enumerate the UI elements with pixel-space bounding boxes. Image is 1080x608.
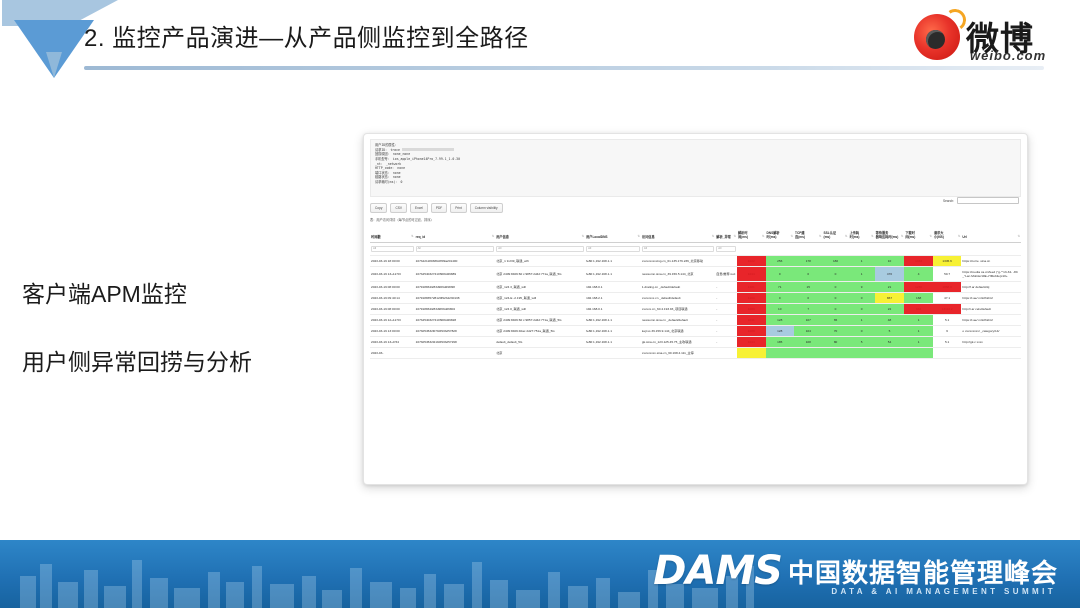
- cell-size: 1345.6: [933, 256, 962, 267]
- cell-localdns: [585, 348, 641, 359]
- filter-cell-ts[interactable]: All: [370, 243, 415, 256]
- cell-dns_t: 1481: [737, 282, 766, 293]
- print-button[interactable]: Print: [450, 203, 467, 213]
- cell-dns_t: 1044: [737, 267, 766, 282]
- cell-access: xxxxxxxxxxing.cn_61.135.176.236_北京移动: [641, 256, 715, 267]
- cell-url: o xxxxxxxxx/ _category/14/: [961, 326, 1021, 337]
- column-header-result[interactable]: 解析_异常⇅: [715, 228, 737, 243]
- cell-result: -: [715, 304, 737, 315]
- cell-size: 6: [933, 326, 962, 337]
- cell-up_ms: 1: [849, 256, 875, 267]
- cell-dns_t: 1041: [737, 315, 766, 326]
- cell-tcp_ms: 0: [794, 293, 823, 304]
- filter-cell-wait_ms[interactable]: [875, 243, 905, 256]
- filter-cell-size[interactable]: [933, 243, 962, 256]
- cell-url: https://corre .sina.cn: [961, 256, 1021, 267]
- cell-result: -: [715, 282, 737, 293]
- cell-up_ms: 1: [849, 267, 875, 282]
- cell-result: -: [715, 293, 737, 304]
- filter-select[interactable]: All: [642, 246, 714, 252]
- cell-dns_ms: 71: [766, 282, 795, 293]
- cell-tcp_ms: 0: [794, 267, 823, 282]
- cell-req_id: 107918834l283d909d2983l8: [415, 282, 496, 293]
- cell-size: [933, 348, 962, 359]
- cell-access: gk.sina.cn_123.125.45.75_主攻联通: [641, 337, 715, 348]
- title-divider: [84, 66, 1044, 70]
- cell-ssl_ms: 0: [823, 304, 849, 315]
- cell-req_id: 107b054532l21b0f93b257298: [415, 337, 496, 348]
- cell-down_ms: 1230: [904, 282, 933, 293]
- cell-result: -: [715, 315, 737, 326]
- cell-ts: 2023-03-: [370, 348, 415, 359]
- cell-size: 1868.0: [933, 282, 962, 293]
- cell-down_ms: 1: [904, 315, 933, 326]
- dams-wordmark: DAMS: [653, 548, 782, 594]
- filter-cell-localdns[interactable]: All: [585, 243, 641, 256]
- column-header-url[interactable]: Url⇅: [961, 228, 1021, 243]
- column-header-wait_ms[interactable]: 等待服务器响应耗时(ms)⇅: [875, 228, 905, 243]
- cell-dns_ms: 10: [766, 304, 795, 315]
- cell-tcp_ms: [794, 348, 823, 359]
- cell-tcp_ms: 104: [794, 326, 823, 337]
- table-note: 表：用户访问详情（每节点的可过滤、排序）: [370, 217, 1021, 222]
- cell-wait_ms: 10: [875, 256, 905, 267]
- sort-icon[interactable]: ⇅: [492, 235, 495, 239]
- weibo-eye-icon: [914, 14, 960, 60]
- sort-icon[interactable]: ⇅: [871, 235, 874, 239]
- column-header-req_id[interactable]: req_id⇅: [415, 228, 496, 243]
- cell-userinfo: 北京: [495, 348, 585, 359]
- cell-userinfo: 北京 2409:8409:60 c:9857:2d42:771a_联通_5G: [495, 315, 585, 326]
- filter-select[interactable]: All: [496, 246, 584, 252]
- table-row[interactable]: 2023-03-19 12+12:53107b2540327410f909d29…: [370, 315, 1021, 326]
- cell-result: 自贡/推荐 /ext: [715, 267, 737, 282]
- cell-tcp_ms: 178: [794, 256, 823, 267]
- cell-result: [715, 256, 737, 267]
- sort-icon[interactable]: ⇅: [901, 235, 904, 239]
- filter-cell-userinfo[interactable]: All: [495, 243, 585, 256]
- sort-icon[interactable]: ⇅: [733, 235, 736, 239]
- column-header-size[interactable]: 请求大小(KB)⇅: [933, 228, 962, 243]
- cell-ts: 2023-03-19 08:00:00: [370, 304, 415, 315]
- cell-localdns: fe80:1,192.168.1.1: [585, 326, 641, 337]
- cell-userinfo: 北京 2409:8409:60 c:9857:2d42:771a_联通_5G: [495, 267, 585, 282]
- cell-dns_ms: 128: [766, 315, 795, 326]
- cell-ssl_ms: 0: [823, 267, 849, 282]
- cell-down_ms: 1: [904, 326, 933, 337]
- cell-size: 50.7: [933, 267, 962, 282]
- slide-header: 2. 监控产品演进—从产品侧监控到全路径 微博 weibo.com: [0, 0, 1080, 78]
- export-toolbar: Copy CSV Excel PDF Print Column visibili…: [370, 203, 1021, 213]
- info-line: 请求耗时(ms)： 0: [375, 180, 1016, 185]
- cell-up_ms: 0: [849, 304, 875, 315]
- cell-access: 1.drating.cn _default/default: [641, 282, 715, 293]
- info-lines: 请求ID： trace回捞原因： none_none手机型号： ios_appl…: [375, 148, 1016, 185]
- cell-size: 5.1: [933, 315, 962, 326]
- cell-dns_t: 1044: [737, 337, 766, 348]
- sort-icon[interactable]: ⇅: [712, 235, 715, 239]
- cell-down_ms: 4: [904, 267, 933, 282]
- cell-dns_ms: 0: [766, 293, 795, 304]
- cell-wait_ms: 54: [875, 337, 905, 348]
- table-row[interactable]: 2023-03-19 18:00:00107b221180389c8f09a20…: [370, 256, 1021, 267]
- cell-ssl_ms: 0: [823, 293, 849, 304]
- filter-select[interactable]: All: [416, 246, 495, 252]
- table-row[interactable]: 2023-03-19 09:40:14107918835728120f92b22…: [370, 293, 1021, 304]
- cell-url: http://i.ar cels/default: [961, 304, 1021, 315]
- caption-list: 客户端APM监控 用户侧异常回捞与分析: [22, 275, 252, 411]
- table-row[interactable]: 2023-03-19 08:00:00107918834l283d909d298…: [370, 282, 1021, 293]
- csv-button[interactable]: CSV: [390, 203, 407, 213]
- cell-access: xxxxxx.cn_60.4.193.93_项目联通: [641, 304, 715, 315]
- pdf-button[interactable]: PDF: [431, 203, 447, 213]
- cell-dns_ms: 0: [766, 267, 795, 282]
- filter-cell-url[interactable]: [961, 243, 1021, 256]
- cell-ts: 2023-03-19 13+0:54: [370, 337, 415, 348]
- cell-wait_ms: 470: [875, 267, 905, 282]
- cell-userinfo: 北京_1 9.239_联通_wifi: [495, 256, 585, 267]
- cell-tcp_ms: 108: [794, 337, 823, 348]
- cell-size: 5.1: [933, 337, 962, 348]
- cell-result: -: [715, 337, 737, 348]
- cell-access: kejl.ss 39.156.9.144_北京联通: [641, 326, 715, 337]
- screenshot-panel: 用户ID的属性： 请求ID： trace回捞原因： none_none手机型号：…: [363, 133, 1028, 485]
- cell-ssl_ms: [823, 348, 849, 359]
- filter-select[interactable]: All: [371, 246, 414, 252]
- cell-down_ms: 1: [904, 337, 933, 348]
- column-header-dns_t[interactable]: 解析时间(ms)⇅: [737, 228, 766, 243]
- cell-wait_ms: 22: [875, 304, 905, 315]
- column-header-localdns[interactable]: 用户LocalDNS⇅: [585, 228, 641, 243]
- cell-req_id: 107918834l283d9f09d26804: [415, 304, 496, 315]
- cell-ts: 2023-03-19 13+12:53: [370, 267, 415, 282]
- table-head: 时间戳⇅req_id⇅用户信息⇅用户LocalDNS⇅访问信息⇅解析_异常⇅解析…: [370, 228, 1021, 243]
- cell-dns_t: 1104: [737, 293, 766, 304]
- column-header-ssl_ms[interactable]: SSL认证(ms)⇅: [823, 228, 849, 243]
- cell-up_ms: 0: [849, 326, 875, 337]
- caption-analysis: 用户侧异常回捞与分析: [22, 343, 252, 377]
- filter-cell-req_id[interactable]: All: [415, 243, 496, 256]
- page-title: 2. 监控产品演进—从产品侧监控到全路径: [84, 18, 529, 53]
- cell-tcp_ms: 7: [794, 304, 823, 315]
- filter-select[interactable]: All: [716, 246, 736, 252]
- sort-icon[interactable]: ⇅: [582, 235, 585, 239]
- cell-userinfo: 北京_124 3_联通_wifi: [495, 282, 585, 293]
- cell-up_ms: 5: [849, 337, 875, 348]
- cell-ts: 2023-03-19 13:00:00: [370, 326, 415, 337]
- sort-icon[interactable]: ⇅: [411, 235, 414, 239]
- cell-localdns: 192.168.2.1: [585, 293, 641, 304]
- sort-icon[interactable]: ⇅: [762, 235, 765, 239]
- cell-url: https://media ca.cn/feed ("g-""13-34- -8…: [961, 267, 1021, 282]
- column-header-tcp_ms[interactable]: TCP建连(ms)⇅: [794, 228, 823, 243]
- cell-wait_ms: 48: [875, 315, 905, 326]
- filter-cell-result[interactable]: All: [715, 243, 737, 256]
- cell-down_ms: 168: [904, 293, 933, 304]
- cell-up_ms: [849, 348, 875, 359]
- cell-wait_ms: 5: [875, 326, 905, 337]
- table-row[interactable]: 2023-03-19 08:00:00107918834l283d9f09d26…: [370, 304, 1021, 315]
- sort-icon[interactable]: ⇅: [929, 235, 932, 239]
- filter-cell-down_ms[interactable]: [904, 243, 933, 256]
- dams-chinese-name: 中国数据智能管理峰会: [788, 553, 1058, 590]
- column-header-userinfo[interactable]: 用户信息⇅: [495, 228, 585, 243]
- cell-userinfo: default_default_5G: [495, 337, 585, 348]
- cell-userinfo: 北京 2409:8409:40ac 2d27:751a_联通_5G: [495, 326, 585, 337]
- cell-localdns: 192.168.0.1: [585, 282, 641, 293]
- sort-icon[interactable]: ⇅: [845, 235, 848, 239]
- cell-access: xxxxxxxxx.sina.cn_60.168.4.111_主停: [641, 348, 715, 359]
- cell-ts: 2023-03-19 08:00:00: [370, 282, 415, 293]
- cell-localdns: 192.168.0.1: [585, 304, 641, 315]
- filter-cell-ssl_ms[interactable]: [823, 243, 849, 256]
- column-header-dns_ms[interactable]: DNS解析时(ms)⇅: [766, 228, 795, 243]
- search-input[interactable]: [957, 197, 1019, 204]
- cell-result: -: [715, 326, 737, 337]
- cell-localdns: fe80:1,192.168.1.1: [585, 337, 641, 348]
- access-detail-table: 时间戳⇅req_id⇅用户信息⇅用户LocalDNS⇅访问信息⇅解析_异常⇅解析…: [370, 228, 1021, 359]
- cell-access: xxxxxxxx.cn _default/default: [641, 293, 715, 304]
- column-header-ts[interactable]: 时间戳⇅: [370, 228, 415, 243]
- cell-localdns: fe80:1,192.168.1.1: [585, 256, 641, 267]
- table-row[interactable]: 2023-03-19 13:00:00107b054532l07b0f93b25…: [370, 326, 1021, 337]
- cell-down_ms: 934: [904, 304, 933, 315]
- cell-dns_ms: [766, 348, 795, 359]
- slide-footer: DAMS 中国数据智能管理峰会 DATA & AI MANAGEMENT SUM…: [0, 540, 1080, 608]
- caption-apm: 客户端APM监控: [22, 275, 252, 309]
- cell-wait_ms: 867: [875, 293, 905, 304]
- table-row[interactable]: 2023-03-北京xxxxxxxxx.sina.cn_60.168.4.111…: [370, 348, 1021, 359]
- copy-button[interactable]: Copy: [370, 203, 387, 213]
- filter-cell-dns_t[interactable]: [737, 243, 766, 256]
- cell-localdns: fe80:1,192.168.1.1: [585, 315, 641, 326]
- cell-req_id: 107b2540327410f909d29828: [415, 315, 496, 326]
- search-label: Search:: [943, 199, 954, 203]
- cell-size: 13113.2: [933, 304, 962, 315]
- cell-ssl_ms: 70: [823, 326, 849, 337]
- cell-ssl_ms: 0: [823, 282, 849, 293]
- filter-cell-up_ms[interactable]: [849, 243, 875, 256]
- column-header-up_ms[interactable]: 上传耗时(ms)⇅: [849, 228, 875, 243]
- weibo-url: weibo.com: [970, 48, 1046, 63]
- cell-ts: 2023-03-19 18:00:00: [370, 256, 415, 267]
- cell-access: newsomn.sina.cn_39.156.5.144_北京: [641, 267, 715, 282]
- cell-url: https://i.ae/ m/lofh2nt2: [961, 315, 1021, 326]
- cell-ssl_ms: 180: [823, 256, 849, 267]
- cell-up_ms: 1: [849, 315, 875, 326]
- cell-up_ms: 9: [849, 282, 875, 293]
- cell-dns_ms: 128: [766, 326, 795, 337]
- cell-dns_ms: 256: [766, 256, 795, 267]
- cell-ssl_ms: 65: [823, 315, 849, 326]
- weibo-logo: 微博 weibo.com: [914, 8, 1062, 66]
- cell-down_ms: [904, 348, 933, 359]
- column-header-down_ms[interactable]: 下载时间(ms)⇅: [904, 228, 933, 243]
- cell-tcp_ms: 107: [794, 315, 823, 326]
- filter-select[interactable]: All: [586, 246, 640, 252]
- cell-userinfo: 北京_124-E -2.195_联通_wifi: [495, 293, 585, 304]
- sort-icon[interactable]: ⇅: [1017, 235, 1020, 239]
- filter-cell-access[interactable]: All: [641, 243, 715, 256]
- excel-button[interactable]: Excel: [410, 203, 428, 213]
- table-body: AllAllAllAllAllAll 2023-03-19 18:00:0010…: [370, 243, 1021, 359]
- cell-down_ms: 1334: [904, 256, 933, 267]
- cell-result: [715, 348, 737, 359]
- cell-req_id: 107b054532l07b0f93b257828: [415, 326, 496, 337]
- sort-icon[interactable]: ⇅: [791, 235, 794, 239]
- cell-dns_t: 1080: [737, 304, 766, 315]
- cell-ssl_ms: 80: [823, 337, 849, 348]
- filter-cell-tcp_ms[interactable]: [794, 243, 823, 256]
- cell-up_ms: 0: [849, 293, 875, 304]
- table-header-row: 时间戳⇅req_id⇅用户信息⇅用户LocalDNS⇅访问信息⇅解析_异常⇅解析…: [370, 228, 1021, 243]
- cell-dns_ms: 185: [766, 337, 795, 348]
- sort-icon[interactable]: ⇅: [637, 235, 640, 239]
- cell-url: https://i.ae/ m/lofh2nt2: [961, 293, 1021, 304]
- cell-access: newsomn.sina.cn _default/default: [641, 315, 715, 326]
- cell-localdns: fe80:1,192.168.1.1: [585, 267, 641, 282]
- cell-tcp_ms: 15: [794, 282, 823, 293]
- cell-url: [961, 348, 1021, 359]
- cell-dns_t: 1022: [737, 256, 766, 267]
- column-visibility-button[interactable]: Column visibility: [470, 203, 503, 213]
- cell-req_id: 107918835728120f92b2230138: [415, 293, 496, 304]
- column-header-access[interactable]: 访问信息⇅: [641, 228, 715, 243]
- cell-url: http://gk.c xxxx: [961, 337, 1021, 348]
- cell-req_id: 107b221180389c8f09a201400: [415, 256, 496, 267]
- cell-dns_t: [737, 348, 766, 359]
- cell-size: 47.1: [933, 293, 962, 304]
- table-filter-row: AllAllAllAllAllAll: [370, 243, 1021, 256]
- cell-dns_t: 1088: [737, 326, 766, 337]
- filter-cell-dns_ms[interactable]: [766, 243, 795, 256]
- cell-userinfo: 北京_124 0_联通_wifi: [495, 304, 585, 315]
- search-area: Search:: [943, 197, 1019, 204]
- cell-url: http://f.ar defaultc/kj: [961, 282, 1021, 293]
- sort-icon[interactable]: ⇅: [958, 235, 961, 239]
- cell-req_id: 107b2540327410f909d29889: [415, 267, 496, 282]
- cell-ts: 2023-03-19 12+12:53: [370, 315, 415, 326]
- table-row[interactable]: 2023-03-19 13+12:53107b2540327410f909d29…: [370, 267, 1021, 282]
- dams-english-name: DATA & AI MANAGEMENT SUMMIT: [831, 587, 1056, 596]
- table-row[interactable]: 2023-03-19 13+0:54107b054532l21b0f93b257…: [370, 337, 1021, 348]
- cell-req_id: [415, 348, 496, 359]
- request-attribute-block: 用户ID的属性： 请求ID： trace回捞原因： none_none手机型号：…: [370, 139, 1021, 197]
- cell-wait_ms: [875, 348, 905, 359]
- cell-wait_ms: 21: [875, 282, 905, 293]
- cell-ts: 2023-03-19 09:40:14: [370, 293, 415, 304]
- sort-icon[interactable]: ⇅: [819, 235, 822, 239]
